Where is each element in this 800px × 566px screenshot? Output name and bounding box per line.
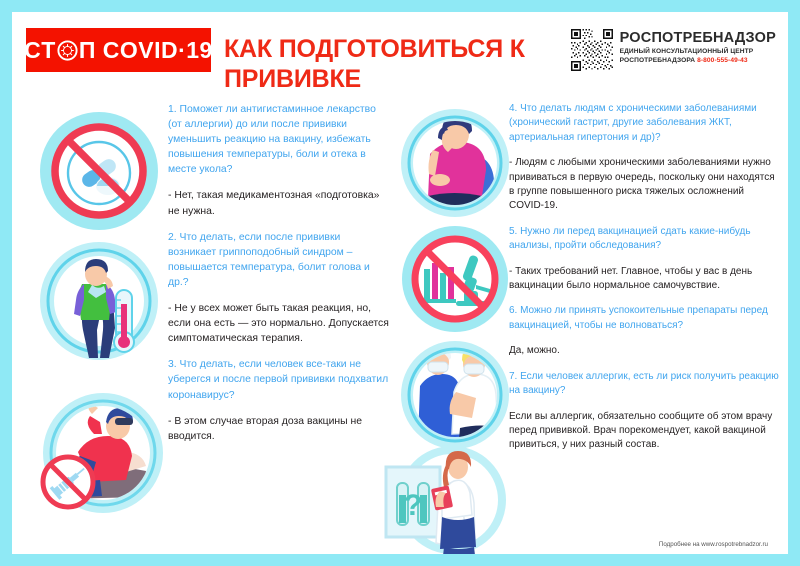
answer-1: - Нет, такая медикаментозная «подготовка… xyxy=(168,188,390,218)
logo-text-right: П COVID·19 xyxy=(79,37,213,64)
question-3: 3. Что делать, если человек все-таки не … xyxy=(168,357,390,402)
doctor-vials-icon: ? xyxy=(380,447,510,554)
org-sub-line-2-row: РОСПОТРЕБНАДЗОРА 8-800-555-49-43 xyxy=(620,57,776,66)
question-4: 4. Что делать людям с хроническими забол… xyxy=(509,102,781,145)
answer-3: - В этом случае вторая доза вакцины не в… xyxy=(168,414,390,444)
content-panel: 1. Поможет ли антигистаминное лекарство … xyxy=(12,90,788,554)
svg-text:?: ? xyxy=(404,489,422,522)
logo-text-left: CT xyxy=(24,37,56,64)
rospotrebnadzor-block: РОСПОТРЕБНАДЗОР ЕДИНЫЙ КОНСУЛЬТАЦИОННЫЙ … xyxy=(571,29,776,71)
stop-covid-logo-text: CT xyxy=(24,37,213,64)
footer-note: Подробнее на www.rospotrebnadzor.ru xyxy=(659,541,768,548)
rospotrebnadzor-texts: РОСПОТРЕБНАДЗОР ЕДИНЫЙ КОНСУЛЬТАЦИОННЫЙ … xyxy=(620,29,776,65)
poster-inner: CT xyxy=(12,12,788,554)
no-second-dose-icon xyxy=(36,390,166,520)
poster-root: CT xyxy=(0,0,800,566)
fever-thermometer-icon xyxy=(38,240,160,362)
answer-4: - Людям с любыми хроническими заболевани… xyxy=(509,156,781,214)
answer-7: Если вы аллергик, обязательно сообщите о… xyxy=(509,410,781,453)
org-subtitle: ЕДИНЫЙ КОНСУЛЬТАЦИОННЫЙ ЦЕНТР РОСПОТРЕБН… xyxy=(620,48,776,65)
qr-code-icon[interactable] xyxy=(571,29,613,71)
question-1: 1. Поможет ли антигистаминное лекарство … xyxy=(168,102,390,177)
org-name: РОСПОТРЕБНАДЗОР xyxy=(620,30,776,46)
stop-covid-logo: CT xyxy=(26,28,211,72)
answer-6: Да, можно. xyxy=(509,344,781,358)
org-sub-line-2: РОСПОТРЕБНАДЗОРА xyxy=(620,57,696,64)
hotline-phone[interactable]: 8-800-555-49-43 xyxy=(697,57,748,64)
right-text-column: 4. Что делать людям с хроническими забол… xyxy=(509,102,781,464)
left-text-column: 1. Поможет ли антигистаминное лекарство … xyxy=(168,102,390,455)
org-sub-line-1: ЕДИНЫЙ КОНСУЛЬТАЦИОННЫЙ ЦЕНТР xyxy=(620,48,776,57)
chronic-patient-icon xyxy=(400,108,510,218)
virus-icon xyxy=(57,40,78,61)
no-pills-icon xyxy=(38,110,160,232)
answer-2: - Не у всех может быть такая реакция, но… xyxy=(168,301,390,346)
question-2: 2. Что делать, если после прививки возни… xyxy=(168,230,390,290)
question-6: 6. Можно ли принять успокоительные препа… xyxy=(509,304,781,333)
question-7: 7. Если человек аллергик, есть ли риск п… xyxy=(509,370,781,399)
poster-header: CT xyxy=(12,12,788,90)
answer-5: - Таких требований нет. Главное, чтобы у… xyxy=(509,265,781,294)
no-lab-tests-icon xyxy=(400,223,510,333)
page-title: КАК ПОДГОТОВИТЬСЯ К ПРИВИВКЕ xyxy=(224,34,584,94)
question-5: 5. Нужно ли перед вакцинацией сдать каки… xyxy=(509,225,781,254)
calm-couple-icon xyxy=(398,340,513,450)
